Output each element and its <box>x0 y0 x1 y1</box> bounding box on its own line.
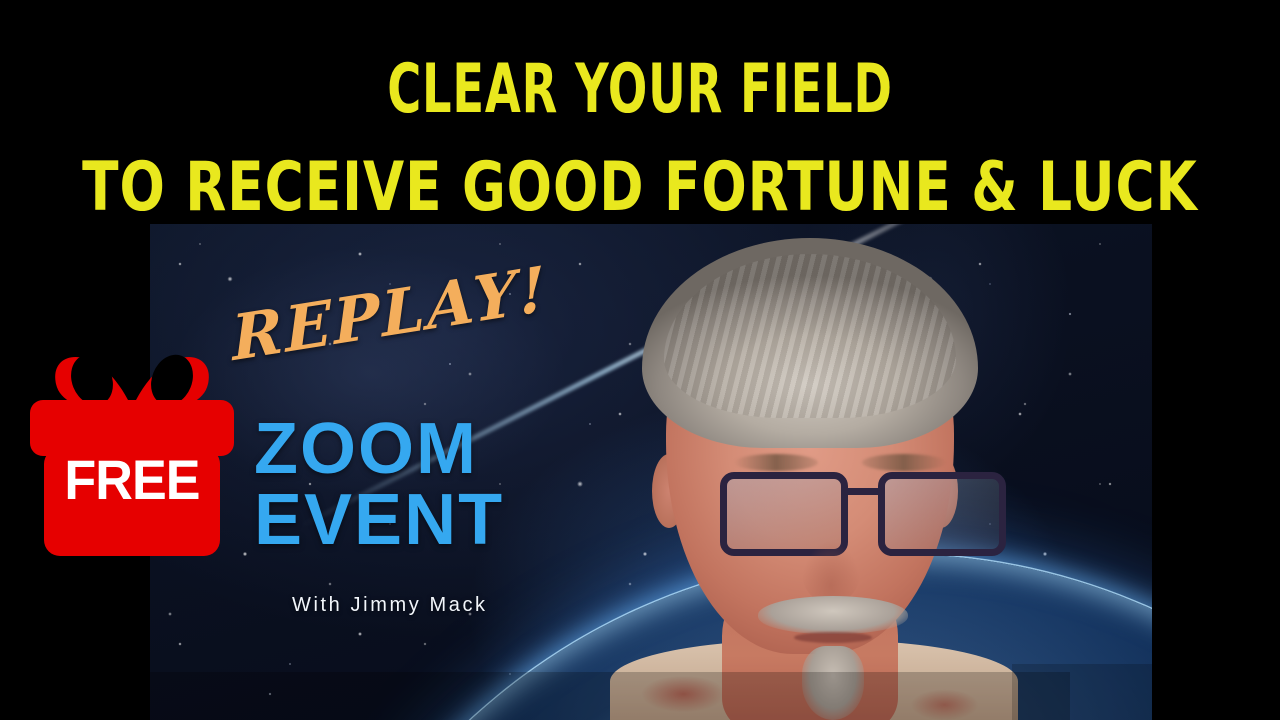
eyebrow-right <box>862 454 946 471</box>
event-title-line-1: ZOOM <box>254 409 478 489</box>
video-thumbnail-page: CLEAR YOUR FIELD TO RECEIVE GOOD FORTUNE… <box>0 0 1280 720</box>
lower-letterbox-band <box>150 672 1070 720</box>
presenter-portrait <box>604 232 1024 720</box>
mouth <box>794 632 872 643</box>
event-title: ZOOM EVENT <box>254 414 504 555</box>
presenter-credit: With Jimmy Mack <box>292 594 488 617</box>
eyeglasses-icon <box>714 472 1014 560</box>
nose <box>802 542 860 604</box>
eyebrow-left <box>734 454 818 471</box>
right-letterbox-band <box>1012 664 1152 720</box>
headline-line-2: TO RECEIVE GOOD FORTUNE & LUCK <box>51 153 1229 220</box>
hair <box>642 238 978 448</box>
lens-right <box>878 472 1006 556</box>
mustache <box>758 596 908 634</box>
headline-line-1: CLEAR YOUR FIELD <box>128 55 1152 122</box>
free-gift-badge[interactable]: FREE <box>26 336 238 564</box>
glasses-bridge <box>844 488 884 495</box>
event-title-line-2: EVENT <box>254 485 504 556</box>
video-thumbnail[interactable]: REPLAY! ZOOM EVENT With Jimmy Mack <box>150 224 1152 720</box>
gift-box-icon <box>26 336 238 564</box>
